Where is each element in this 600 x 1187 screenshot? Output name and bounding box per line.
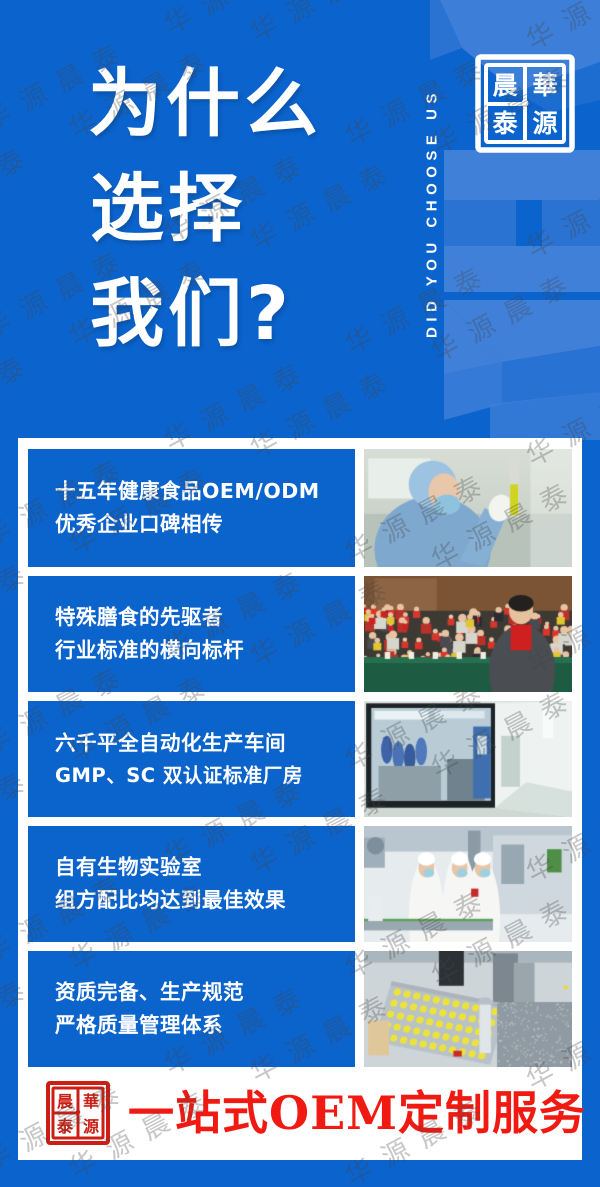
headline-line-3: 我们?	[90, 262, 322, 367]
feature-card-1-line-2: 优秀企业口碑相传	[55, 508, 355, 541]
seal-char-2: 華	[532, 71, 557, 100]
photo-cleanroom-corridor	[364, 701, 572, 817]
feature-row: 六千平全自动化生产车间 GMP、SC 双认证标准厂房	[28, 701, 572, 817]
feature-card-5-line-1: 资质完备、生产规范	[55, 976, 355, 1009]
seal-char-1: 晨	[57, 1092, 74, 1111]
poster-root: 为什么 选择 我们? DID YOU CHOOSE US 晨 華 泰 源	[0, 0, 600, 1187]
vertical-english-subtitle: DID YOU CHOOSE US	[419, 24, 445, 402]
page-title: 为什么 选择 我们?	[88, 52, 322, 367]
feature-card-3[interactable]: 六千平全自动化生产车间 GMP、SC 双认证标准厂房	[28, 701, 355, 817]
headline-line-1: 为什么	[88, 52, 322, 157]
seal-char-4: 源	[532, 109, 557, 138]
feature-card-4-line-2: 组方配比均达到最佳效果	[55, 884, 355, 917]
bottom-banner: 晨 華 泰 源 一站式OEM定制服务	[28, 1076, 572, 1150]
seal-char-3: 泰	[492, 109, 518, 138]
feature-card-2-line-2: 行业标准的横向标杆	[55, 634, 355, 667]
company-seal-red-icon: 晨 華 泰 源	[44, 1079, 112, 1147]
feature-card-3-line-2: GMP、SC 双认证标准厂房	[55, 760, 355, 792]
headline-line-2: 选择	[90, 157, 322, 262]
photo-packing-machine	[364, 951, 572, 1067]
feature-card-2[interactable]: 特殊膳食的先驱者 行业标准的横向标杆	[28, 576, 355, 692]
feature-row: 十五年健康食品OEM/ODM 优秀企业口碑相传	[28, 449, 572, 567]
feature-row: 特殊膳食的先驱者 行业标准的横向标杆	[28, 576, 572, 692]
photo-conference-hall	[364, 576, 572, 692]
feature-card-5[interactable]: 资质完备、生产规范 严格质量管理体系	[28, 951, 355, 1067]
photo-lab-technician	[364, 449, 572, 567]
company-seal-icon: 晨 華 泰 源	[472, 52, 578, 156]
feature-card-1-line-1: 十五年健康食品OEM/ODM	[55, 475, 355, 508]
banner-slogan: 一站式OEM定制服务	[128, 1090, 586, 1136]
feature-panel: 十五年健康食品OEM/ODM 优秀企业口碑相传 特殊膳食的先驱者 行业标准的横向…	[18, 438, 582, 1160]
seal-char-3: 泰	[56, 1117, 74, 1136]
feature-card-4[interactable]: 自有生物实验室 组方配比均达到最佳效果	[28, 826, 355, 942]
feature-card-3-line-1: 六千平全自动化生产车间	[55, 727, 355, 760]
feature-row: 资质完备、生产规范 严格质量管理体系	[28, 951, 572, 1067]
poster-header: 为什么 选择 我们? DID YOU CHOOSE US 晨 華 泰 源	[0, 0, 600, 440]
feature-card-2-line-1: 特殊膳食的先驱者	[55, 601, 355, 634]
seal-char-1: 晨	[492, 71, 518, 100]
feature-row: 自有生物实验室 组方配比均达到最佳效果	[28, 826, 572, 942]
seal-char-4: 源	[83, 1117, 99, 1136]
feature-card-5-line-2: 严格质量管理体系	[55, 1009, 355, 1042]
photo-production-line-workers	[364, 826, 572, 942]
feature-card-1[interactable]: 十五年健康食品OEM/ODM 优秀企业口碑相传	[28, 449, 355, 567]
seal-char-2: 華	[83, 1092, 99, 1111]
feature-card-4-line-1: 自有生物实验室	[55, 851, 355, 884]
